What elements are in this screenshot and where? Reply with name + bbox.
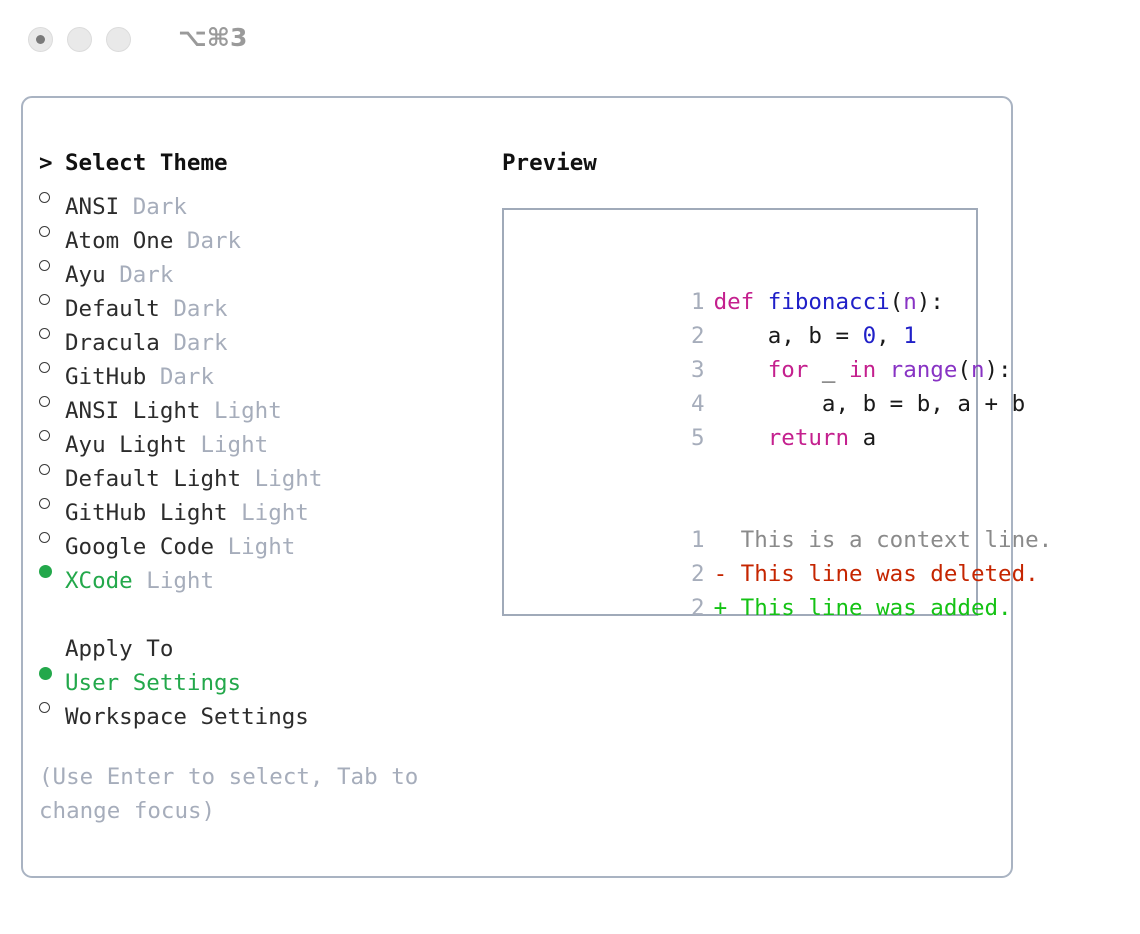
radio-unselected-icon (39, 214, 65, 248)
keyboard-shortcut-hint: ⌥⌘3 (178, 25, 247, 54)
radio-unselected-icon (39, 690, 65, 724)
line-number: 4 (679, 387, 705, 421)
code-token (714, 357, 768, 383)
select-theme-heading-label: Select Theme (65, 146, 228, 180)
radio-unselected-icon (39, 520, 65, 554)
line-number: 5 (679, 421, 705, 455)
theme-selector-panel: > Select Theme ANSI Dark Atom One Dark A… (21, 96, 1013, 878)
radio-unselected-icon (39, 282, 65, 316)
code-token: a (849, 425, 876, 451)
code-preview-area: 1def fibonacci(n): 2 a, b = 0, 1 3 for _… (516, 251, 968, 591)
line-number: 2 (679, 319, 705, 353)
radio-unselected-icon (39, 180, 65, 214)
radio-unselected-icon (39, 384, 65, 418)
close-button-dot (36, 35, 45, 44)
code-token: fibonacci (768, 289, 890, 315)
apply-to-option-label: User Settings (65, 666, 241, 700)
theme-list-column: > Select Theme ANSI Dark Atom One Dark A… (39, 146, 469, 724)
line-number: 1 (679, 523, 705, 557)
theme-variant: Dark (133, 190, 187, 224)
diff-prefix: + (714, 595, 741, 621)
theme-name: ANSI (65, 190, 119, 224)
preview-title: Preview (502, 146, 992, 180)
code-token (876, 357, 890, 383)
code-token: , (876, 323, 903, 349)
diff-text: This line was added. (741, 595, 1012, 621)
diff-text: This line was deleted. (741, 561, 1039, 587)
radio-unselected-icon (39, 316, 65, 350)
code-line: 1def fibonacci(n): (516, 251, 968, 285)
theme-variant: Dark (160, 360, 214, 394)
code-token: ( (890, 289, 904, 315)
code-token: range (890, 357, 958, 383)
theme-name: Ayu (65, 258, 106, 292)
diff-text: This is a context line. (741, 527, 1053, 553)
theme-name: Google Code (65, 530, 214, 564)
line-number: 2 (679, 591, 705, 625)
apply-to-heading: Apply To (39, 622, 469, 656)
radio-selected-icon (39, 554, 65, 588)
theme-name: GitHub Light (65, 496, 228, 530)
apply-to-option-label: Workspace Settings (65, 700, 309, 734)
code-token: ( (957, 357, 971, 383)
diff-prefix: - (714, 561, 741, 587)
line-number: 1 (679, 285, 705, 319)
radio-unselected-icon (39, 452, 65, 486)
code-token: a, b = (714, 323, 863, 349)
theme-variant: Dark (173, 292, 227, 326)
code-token: def (714, 289, 755, 315)
theme-variant: Dark (119, 258, 173, 292)
theme-name: XCode (65, 564, 133, 598)
diff-line-context: 1 This is a context line. (516, 489, 968, 523)
theme-variant: Dark (173, 326, 227, 360)
theme-name: Atom One (65, 224, 173, 258)
code-token: for (768, 357, 809, 383)
code-token: 1 (903, 323, 917, 349)
theme-name: Ayu Light (65, 428, 187, 462)
code-token: _ (808, 357, 849, 383)
theme-name: GitHub (65, 360, 146, 394)
radio-unselected-icon (39, 486, 65, 520)
code-token (714, 425, 768, 451)
theme-name: Default Light (65, 462, 241, 496)
theme-variant: Dark (187, 224, 241, 258)
traffic-light-group (28, 27, 131, 52)
code-token: n (971, 357, 985, 383)
window-titlebar: ⌥⌘3 (0, 0, 1140, 78)
line-number: 3 (679, 353, 705, 387)
radio-selected-icon (39, 656, 65, 690)
code-token: a, b = b, a + b (714, 391, 1026, 417)
code-token (754, 289, 768, 315)
apply-to-indent (39, 622, 65, 656)
preview-column: Preview 1def fibonacci(n): 2 a, b = 0, 1… (502, 146, 992, 616)
line-number: 2 (679, 557, 705, 591)
code-token: n (903, 289, 917, 315)
theme-variant: Light (255, 462, 323, 496)
theme-variant: Light (228, 530, 296, 564)
maximize-button[interactable] (106, 27, 131, 52)
radio-unselected-icon (39, 350, 65, 384)
theme-variant: Light (241, 496, 309, 530)
minimize-button[interactable] (67, 27, 92, 52)
code-token: ): (985, 357, 1012, 383)
code-token: in (849, 357, 876, 383)
theme-name: Default (65, 292, 160, 326)
select-theme-heading: > Select Theme (39, 146, 469, 180)
theme-variant: Light (200, 428, 268, 462)
preview-box: 1def fibonacci(n): 2 a, b = 0, 1 3 for _… (502, 208, 978, 616)
diff-prefix (714, 527, 741, 553)
apply-to-label: Apply To (65, 632, 173, 666)
radio-unselected-icon (39, 418, 65, 452)
code-token: return (768, 425, 849, 451)
theme-variant: Light (214, 394, 282, 428)
radio-unselected-icon (39, 248, 65, 282)
theme-variant: Light (146, 564, 214, 598)
keyboard-hint-text: (Use Enter to select, Tab to change focu… (39, 760, 459, 828)
code-token: 0 (863, 323, 877, 349)
theme-name: ANSI Light (65, 394, 200, 428)
theme-list-item[interactable]: ANSI Dark (39, 180, 469, 214)
theme-name: Dracula (65, 326, 160, 360)
heading-caret-icon: > (39, 146, 65, 180)
close-button[interactable] (28, 27, 53, 52)
code-token: ): (917, 289, 944, 315)
